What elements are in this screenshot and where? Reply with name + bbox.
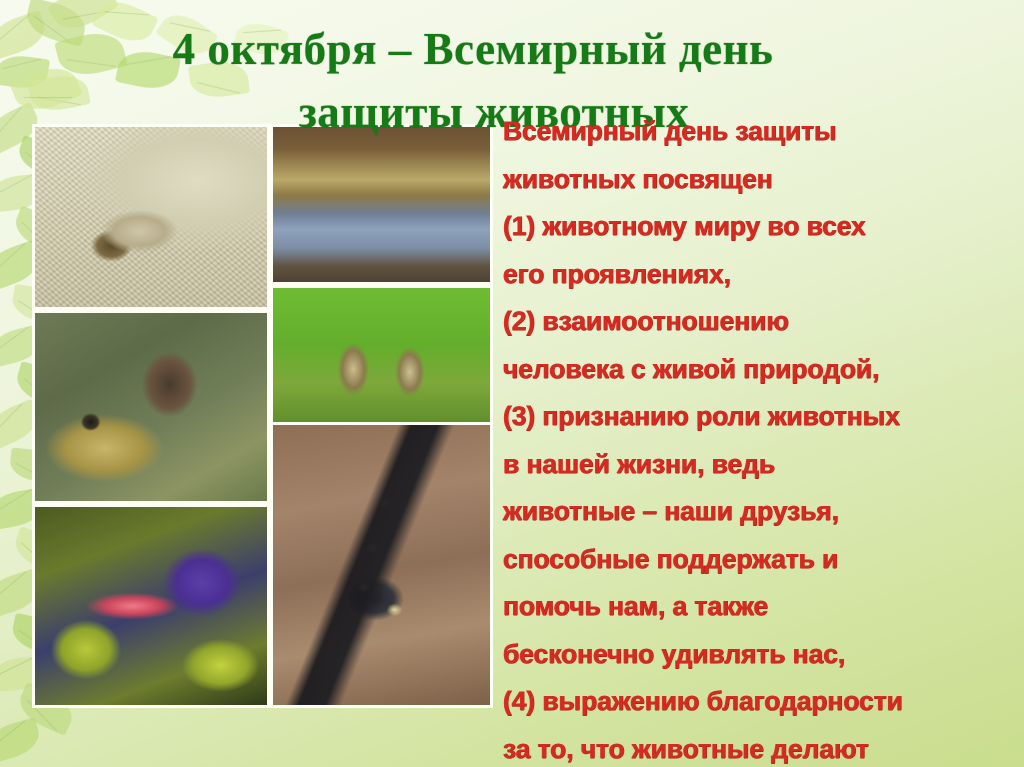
- body-text-block: Всемирный день защиты животных посвящен …: [503, 108, 1024, 767]
- photo-collage: [35, 127, 490, 705]
- body-text-line: животные – наши друзья,: [503, 488, 1024, 536]
- slide-canvas: 4 октября – Всемирный день защиты животн…: [0, 0, 1024, 767]
- body-text-line: Всемирный день защиты: [503, 108, 1024, 156]
- body-text-line: в нашей жизни, ведь: [503, 441, 1024, 489]
- body-text-line: животных посвящен: [503, 156, 1024, 204]
- fire-salamander-photo: [273, 425, 490, 705]
- monkey-portrait-photo: [35, 313, 267, 501]
- body-text-line: (3) признанию роли животных: [503, 393, 1024, 441]
- body-text-line: (4) выражению благодарности: [503, 678, 1024, 726]
- reef-shrimp-photo: [35, 507, 267, 705]
- burrowing-owls-photo: [273, 288, 490, 428]
- leaf-icon: [0, 717, 44, 764]
- body-text-line: бесконечно удивлять нас,: [503, 631, 1024, 679]
- crab-on-sand-photo: [35, 127, 267, 307]
- slide-title-line1: 4 октября – Всемирный день: [0, 21, 1024, 72]
- body-text-line: за то, что животные делают: [503, 726, 1024, 767]
- body-text-line: способные поддержать и: [503, 536, 1024, 584]
- body-text-line: (2) взаимоотношению: [503, 298, 1024, 346]
- body-text-line: (1) животному миру во всех: [503, 203, 1024, 251]
- body-text-line: его проявлениях,: [503, 251, 1024, 299]
- crocodile-in-water-photo: [273, 127, 490, 282]
- body-text-line: помочь нам, а также: [503, 583, 1024, 631]
- body-text-line: человека с живой природой,: [503, 346, 1024, 394]
